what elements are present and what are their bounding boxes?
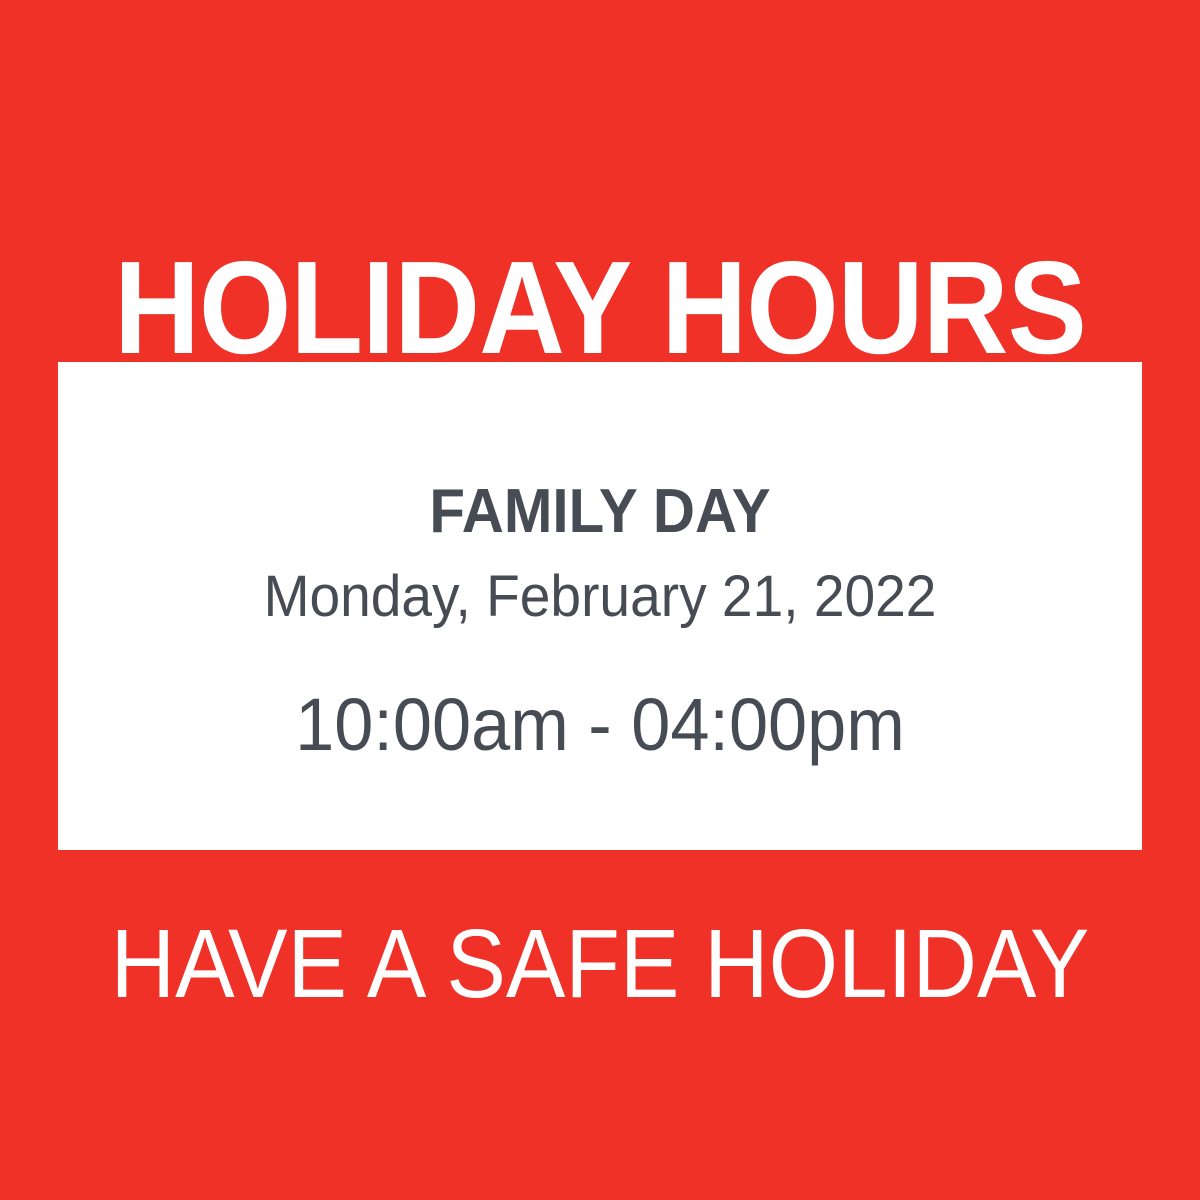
event-date: Monday, February 21, 2022 (85, 566, 1115, 628)
event-hours: 10:00am - 04:00pm (85, 686, 1115, 764)
event-name: FAMILY DAY (91, 480, 1110, 544)
holiday-info-card: FAMILY DAY Monday, February 21, 2022 10:… (58, 362, 1142, 850)
page-title: HOLIDAY HOURS (60, 238, 1140, 378)
holiday-hours-poster: HOLIDAY HOURS FAMILY DAY Monday, Februar… (0, 0, 1200, 1200)
footer-message: HAVE A SAFE HOLIDAY (48, 912, 1152, 1016)
holiday-info-card-content: FAMILY DAY Monday, February 21, 2022 10:… (58, 362, 1142, 764)
